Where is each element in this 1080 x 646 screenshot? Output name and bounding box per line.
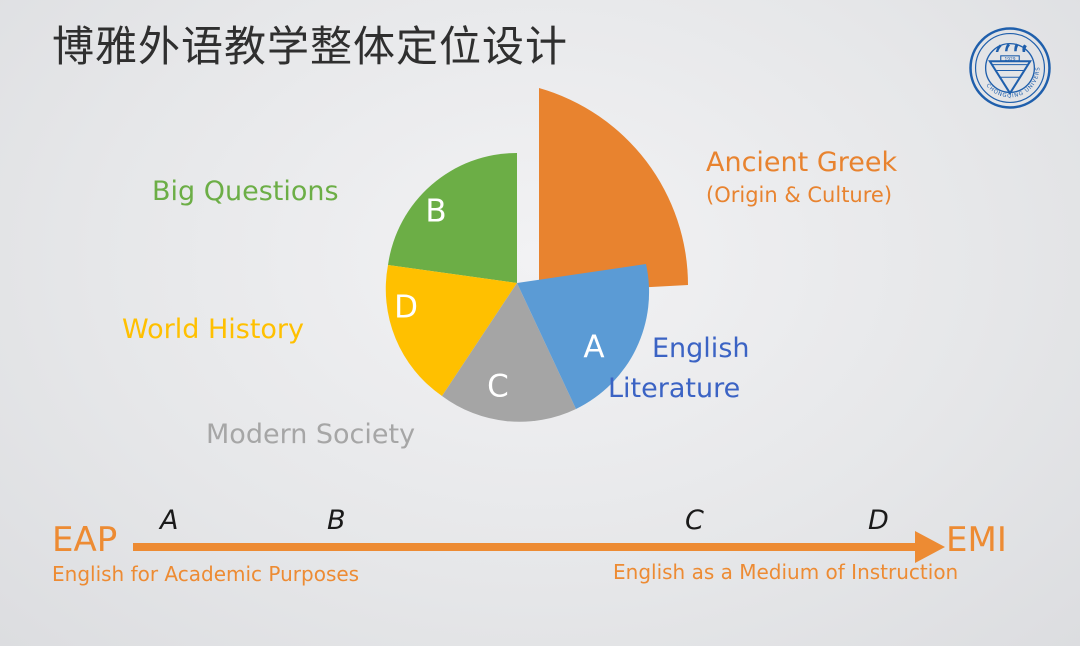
pie-label-big-questions: Big Questions: [152, 175, 339, 209]
continuum-left-end: EAP English for Academic Purposes: [52, 521, 359, 587]
continuum-tick-c: C: [685, 505, 704, 536]
pie-letter-d: D: [394, 290, 418, 326]
eap-emi-continuum: A B C D EAP English for Academic Purpose…: [0, 497, 1080, 597]
pie-label-world-history: World History: [122, 313, 304, 347]
pie-slice-ancient-greek[interactable]: [539, 88, 688, 293]
pie-letter-b: B: [425, 194, 446, 230]
pie-chart: B D C A: [330, 78, 710, 468]
chongqing-university-logo: 1929 CHONGQING UNIVERSITY: [968, 26, 1052, 110]
pie-letter-a: A: [583, 330, 604, 366]
continuum-left-desc: English for Academic Purposes: [52, 561, 359, 587]
slide-canvas: 博雅外语教学整体定位设计 1929 CHONGQING UNIVERSITY: [0, 0, 1080, 646]
continuum-right-end: EMI: [946, 521, 1007, 559]
page-title: 博雅外语教学整体定位设计: [52, 18, 568, 76]
pie-label-english-literature: English Literature: [652, 332, 750, 406]
pie-label-english-main: English: [652, 333, 750, 364]
continuum-right-desc: English as a Medium of Instruction: [613, 559, 958, 585]
pie-label-ancient-greek: Ancient Greek (Origin & Culture): [706, 146, 897, 210]
pie-slice-big-questions[interactable]: [388, 153, 517, 283]
svg-text:1929: 1929: [1004, 56, 1015, 62]
pie-label-english-sub: Literature: [608, 372, 750, 406]
continuum-right-abbr: EMI: [946, 521, 1007, 559]
pie-label-ancient-greek-main: Ancient Greek: [706, 147, 897, 178]
continuum-tick-d: D: [868, 505, 889, 536]
pie-letter-c: C: [487, 369, 509, 405]
pie-label-ancient-greek-sub: (Origin & Culture): [706, 180, 897, 210]
pie-label-modern-society: Modern Society: [206, 418, 415, 452]
continuum-left-abbr: EAP: [52, 521, 359, 559]
